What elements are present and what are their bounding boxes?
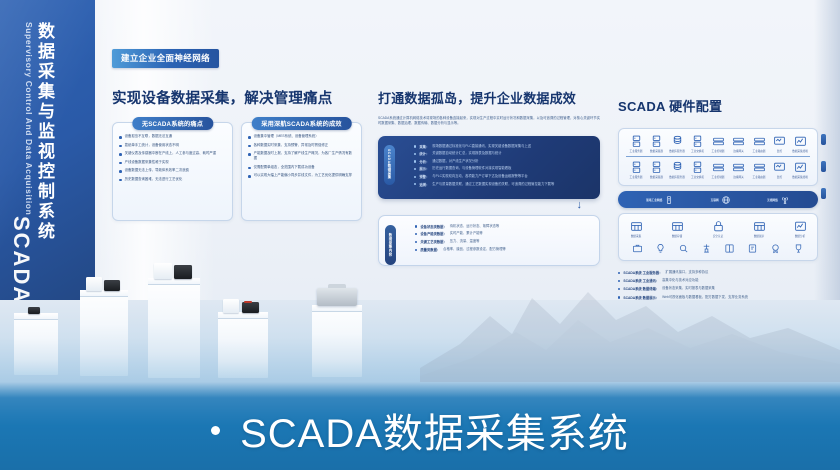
edit-icon xyxy=(747,243,758,254)
column-two-title: 打通数据孤岛，提升企业数据成效 xyxy=(378,88,600,107)
list-item-key: 质量类数据： xyxy=(420,247,440,252)
list-item-text: 仅需配置单组态，全范围内下载成功设备 xyxy=(254,165,315,170)
pedestal xyxy=(14,313,58,375)
list-item-text: 与PLC实现双向互动，各项能力产订单下达及设备运维报警等平台 xyxy=(432,174,527,179)
bullet-dot-icon xyxy=(415,241,417,243)
application-item-label: 数据存储 xyxy=(672,234,682,238)
chart-icon xyxy=(794,220,807,233)
list-item-text: 压力、流量、温度等 xyxy=(450,239,480,244)
column-one: 建立企业全面神经网络 实现设备数据采集，解决管理痛点 无SCADA系统的痛点 设… xyxy=(112,48,362,221)
column-one-title: 实现设备数据采集，解决管理痛点 xyxy=(112,87,362,108)
rack-icon xyxy=(732,161,745,174)
list-item-text: 可以实现大幅上产能偏小同步并线文件，为工艺优化提供明确支撑 xyxy=(254,173,352,178)
tower-icon xyxy=(664,195,674,205)
bullet-dot-icon xyxy=(248,167,251,170)
pedestal-top xyxy=(14,313,58,320)
bullet-dot-icon xyxy=(415,233,417,235)
side-tab xyxy=(821,188,826,199)
list-item-text: 产能数据及时上报，支持了解产线生产概况，为各厂生产情况有数据 xyxy=(254,151,355,161)
hardware-item-label: 工业控制器 xyxy=(712,175,725,179)
application-item: 安全认证 xyxy=(708,220,728,238)
antenna-icon xyxy=(780,195,790,205)
server-icon xyxy=(650,135,663,148)
server-icon xyxy=(691,135,704,148)
grid-icon xyxy=(630,220,643,233)
bullet-dot-icon xyxy=(119,170,122,173)
list-item-key: 展示： xyxy=(419,166,429,171)
list-item: 展示：历史运行数据查询，与设备管理软件对接实现智能看板 xyxy=(414,166,592,171)
hardware-item-label: 监控 xyxy=(777,175,782,179)
bullet-dot-icon xyxy=(248,153,251,156)
list-item: 分析：通过数据，对产线生产状况分析 xyxy=(414,159,592,164)
list-item: 追溯：生产与质量数据关联，通过工艺数据实现设备的关联，可追溯的过程管控能力下载等 xyxy=(414,182,592,187)
monitor-icon xyxy=(773,161,786,174)
hardware-item-label: 边缘网关 xyxy=(733,175,743,179)
hardware-item: 数据采集终端 xyxy=(790,135,810,153)
collection-content-tab: 数据采集内容 xyxy=(385,225,396,265)
exhibition-booth-screenshot: 数据采集与监视控制系统 SCADA Supervisory Control An… xyxy=(0,0,840,470)
list-item-text: 合格率、废品、过程参数设定、配方管理等 xyxy=(443,247,506,252)
list-item: 设备数据无法上传，导致体系效率二次浪费 xyxy=(119,168,226,173)
sidebar-text-stack: 数据采集与监视控制系统 SCADA Supervisory Control An… xyxy=(8,22,53,312)
list-item-text: 生产与质量数据关联，通过工艺数据实现设备的关联，可追溯的过程管控能力下载等 xyxy=(432,182,554,187)
hardware-row-divider xyxy=(626,156,810,157)
list-item-key: 统计： xyxy=(419,151,429,156)
application-item: 数据采集 xyxy=(626,220,646,238)
pedestal-top xyxy=(148,278,200,285)
bulb-icon xyxy=(655,243,666,254)
hardware-item: 工业服务器 xyxy=(626,161,646,179)
hardware-item-label: 工业交换机 xyxy=(691,149,704,153)
sidebar-scada-word: SCADA xyxy=(8,216,34,304)
podium-icon xyxy=(701,243,712,254)
hardware-item: 边缘网关 xyxy=(729,135,749,153)
hardware-item: 工业交换机 xyxy=(688,135,708,153)
award-icon xyxy=(793,243,804,254)
list-item-text: 通过数据，对产线生产状况分析 xyxy=(432,159,478,164)
bullet-dot-icon xyxy=(119,179,122,182)
hardware-item-label: 数据库服务器 xyxy=(669,175,685,179)
hardware-item-label: 监控 xyxy=(777,149,782,153)
list-item: 产能数据及时上报，支持了解产线生产概况，为各厂生产情况有数据 xyxy=(248,151,355,161)
hardware-upper-box: 工业服务器 数据采集器 数据库服务器 工业交换机 xyxy=(618,128,818,186)
list-item-key: 关键工艺类数据： xyxy=(420,239,446,244)
list-item: 可以实现大幅上产能偏小同步并线文件，为工艺优化提供明确支撑 xyxy=(248,173,355,178)
rack-icon xyxy=(753,135,766,148)
list-item-key: 预警： xyxy=(419,174,429,179)
sidebar-en-wrap: SCADA Supervisory Control And Data Acqui… xyxy=(8,22,34,305)
network-item: 互联网 xyxy=(711,195,731,205)
hardware-item: 工业控制器 xyxy=(708,135,728,153)
down-arrow-icon: ↓ xyxy=(577,200,583,211)
bullet-dot-icon xyxy=(415,225,417,227)
bullet-dot-icon xyxy=(248,136,251,139)
bullet-dot-icon xyxy=(119,153,122,156)
list-item: 设备孤岛不互联，数据无法互通 xyxy=(119,134,226,139)
hardware-config-title: SCADA 硬件配置 xyxy=(618,96,818,115)
hardware-item-label: 工业服务器 xyxy=(630,149,643,153)
pedestal-top xyxy=(312,305,362,312)
bullet-dot-icon xyxy=(414,176,416,178)
bottom-title-banner: SCADA数据采集系统 xyxy=(0,382,840,470)
hardware-row-one: 工业服务器 数据采集器 数据库服务器 工业交换机 xyxy=(626,135,810,153)
hardware-item: 数据库服务器 xyxy=(667,161,687,179)
application-item: 数据存储 xyxy=(667,220,687,238)
list-item-key: 追溯： xyxy=(419,182,429,187)
grid-icon xyxy=(753,220,766,233)
network-item: 现场工业网络 xyxy=(646,195,674,205)
pedestal xyxy=(148,278,200,378)
sidebar-subtitle-en: Supervisory Control And Data Acquisition xyxy=(24,22,34,215)
sidebar-banner: 数据采集与监视控制系统 SCADA Supervisory Control An… xyxy=(0,0,95,330)
diagram-side-tabs xyxy=(821,134,826,199)
list-item: 采集：现场数据通过标准化与PLC直接通讯，实现关键设备数据采集与上送 xyxy=(414,144,592,149)
hardware-row-two: 工业服务器 数据采集器 数据库服务器 工业交换机 xyxy=(626,161,810,179)
application-item: 数据分析 xyxy=(790,220,810,238)
display-device xyxy=(104,280,120,291)
list-item: 预警：与PLC实现双向互动，各项能力产订单下达及设备运维报警等平台 xyxy=(414,174,592,179)
list-item: 历史数据查询困难，无法进行工艺优化 xyxy=(119,177,226,182)
sidebar-title-cn: 数据采集与监视控制系统 xyxy=(36,22,53,242)
book-icon xyxy=(724,243,735,254)
list-item-text: 关键仪表及传感器中断在产线上，人工参与度过高、耗时严重 xyxy=(125,151,217,156)
network-item-label: 互联网 xyxy=(711,198,719,202)
grid-icon xyxy=(671,220,684,233)
benefits-list: 设备集中管理（MES系统、设备管理系统） 各种数据实时采集，支持预警、异常及时督… xyxy=(248,134,355,178)
list-item: 产线设备数据采集性难于实现 xyxy=(119,160,226,165)
hardware-item-label: 数据采集器 xyxy=(650,175,663,179)
bullet-dot-icon xyxy=(248,145,251,148)
display-device-handle xyxy=(328,284,346,288)
monitor-icon xyxy=(773,135,786,148)
pedestal xyxy=(80,290,128,376)
globe-icon xyxy=(721,195,731,205)
list-item-text: 待机状态、运行状态、故障状态等 xyxy=(450,224,499,229)
list-item-text: 现场数据通过标准化与PLC直接通讯，实现关键设备数据采集与上送 xyxy=(432,144,531,149)
bullet-dot-icon xyxy=(248,175,251,178)
lock-icon xyxy=(712,220,725,233)
bullet-dot-icon xyxy=(119,162,122,165)
network-item: 无线网络 xyxy=(767,195,790,205)
list-item-text: 历史运行数据查询，与设备管理软件对接实现智能看板 xyxy=(432,166,511,171)
hardware-item: 工业交换机 xyxy=(688,161,708,179)
server-icon xyxy=(691,161,704,174)
hardware-item-label: 工业服务器 xyxy=(630,175,643,179)
display-device xyxy=(174,265,192,279)
list-item: 质量类数据：合格率、废品、过程参数设定、配方管理等 xyxy=(415,247,591,252)
hardware-item: 数据采集终端 xyxy=(790,161,810,179)
application-item-label: 数据采集 xyxy=(631,234,641,238)
application-item-label: 数据分析 xyxy=(795,234,805,238)
mountain-graphic xyxy=(420,272,840,382)
list-item: 统计：关键数据自动统计汇总，实现报表及数据与统计 xyxy=(414,151,592,156)
hardware-item: 工业服务器 xyxy=(626,135,646,153)
application-item: 数据展示 xyxy=(749,220,769,238)
hardware-item: 边缘网关 xyxy=(729,161,749,179)
list-item: 设备集中管理（MES系统、设备管理系统） xyxy=(248,134,355,139)
server-icon xyxy=(630,135,643,148)
application-row: 数据采集 数据存储 安全认证 数据展示 xyxy=(626,220,810,238)
bullet-dot-icon xyxy=(414,168,416,170)
industry-icon-row xyxy=(626,243,810,254)
hardware-item-label: 工业路由器 xyxy=(753,175,766,179)
pain-benefit-cards: 无SCADA系统的痛点 设备孤岛不互联，数据无法互通 靠纸单手工统计，设备使用状… xyxy=(112,122,362,221)
badge-icon xyxy=(770,243,781,254)
list-item: 设备产能类数据：实时产能、累计产能等 xyxy=(415,231,591,236)
server-icon xyxy=(630,161,643,174)
bullet-dot-icon xyxy=(415,249,417,251)
list-item: 各种数据实时采集，支持预警、异常及时督促修正 xyxy=(248,143,355,148)
hardware-item: 工业路由器 xyxy=(749,135,769,153)
hardware-item: 数据采集器 xyxy=(647,135,667,153)
side-tab xyxy=(821,134,826,145)
network-item-label: 现场工业网络 xyxy=(646,198,662,202)
database-icon xyxy=(671,161,684,174)
pain-points-list: 设备孤岛不互联，数据无法互通 靠纸单手工统计，设备使用状态不明 关键仪表及传感器… xyxy=(119,134,226,182)
rack-icon xyxy=(753,161,766,174)
benefits-card-header: 采用深航SCADA系统的成效 xyxy=(251,117,352,130)
column-two: 打通数据孤岛，提升企业数据成效 SCADA系统通过计算机网络技术将现场的各种设备… xyxy=(378,88,600,266)
rack-icon xyxy=(712,161,725,174)
list-item-key: 分析： xyxy=(419,159,429,164)
banner-title: SCADA数据采集系统 xyxy=(240,401,629,459)
display-device xyxy=(223,299,239,313)
list-item: 设备状态类数据：待机状态、运行状态、故障状态等 xyxy=(415,224,591,229)
pedestal xyxy=(312,305,362,377)
server-icon xyxy=(650,161,663,174)
application-item-label: 安全认证 xyxy=(713,234,723,238)
headline-pill: 建立企业全面神经网络 xyxy=(112,49,219,68)
network-layer-bar: 现场工业网络 互联网 无线网络 xyxy=(618,191,818,208)
hardware-item-label: 数据采集终端 xyxy=(792,149,808,153)
hardware-lower-box: 数据采集 数据存储 安全认证 数据展示 xyxy=(618,213,818,261)
list-item-text: 设备集中管理（MES系统、设备管理系统） xyxy=(254,134,319,139)
chart-icon xyxy=(794,161,807,174)
pain-points-card: 无SCADA系统的痛点 设备孤岛不互联，数据无法互通 靠纸单手工统计，设备使用状… xyxy=(112,122,233,221)
display-device xyxy=(154,263,172,279)
list-item-text: 历史数据查询困难，无法进行工艺优化 xyxy=(125,177,183,182)
banner-inner: SCADA数据采集系统 xyxy=(211,401,629,459)
display-device-accent xyxy=(244,301,252,303)
bullet-dot-icon xyxy=(414,153,416,155)
hardware-item: 监控 xyxy=(770,161,790,179)
chart-icon xyxy=(794,135,807,148)
list-item-text: 关键数据自动统计汇总，实现报表及数据与统计 xyxy=(432,151,501,156)
scada-collection-panel: SCADA数据采集 采集：现场数据通过标准化与PLC直接通讯，实现关键设备数据采… xyxy=(378,136,600,199)
hardware-item-label: 工业路由器 xyxy=(753,149,766,153)
list-item: 关键工艺类数据：压力、流量、温度等 xyxy=(415,239,591,244)
hardware-item-label: 工业控制器 xyxy=(712,149,725,153)
list-item-text: 实时产能、累计产能等 xyxy=(450,231,483,236)
hardware-item: 数据库服务器 xyxy=(667,135,687,153)
collection-content-tab-label: 数据采集内容 xyxy=(388,233,393,256)
list-item-key: 设备状态类数据： xyxy=(420,224,446,229)
bullet-dot-icon xyxy=(119,145,122,148)
target-icon xyxy=(678,243,689,254)
bullet-dot-icon xyxy=(119,136,122,139)
list-item-key: 采集： xyxy=(419,144,429,149)
scada-collection-tab-label: SCADA数据采集 xyxy=(387,149,392,179)
side-tab xyxy=(821,161,826,172)
list-item-text: 各种数据实时采集，支持预警、异常及时督促修正 xyxy=(254,143,329,148)
hardware-item-label: 数据采集终端 xyxy=(792,175,808,179)
bullet-dot-icon xyxy=(414,145,416,147)
bullet-dot-icon xyxy=(414,160,416,162)
list-item: 关键仪表及传感器中断在产线上，人工参与度过高、耗时严重 xyxy=(119,151,226,156)
application-item-label: 数据展示 xyxy=(754,234,764,238)
briefcase-icon xyxy=(632,243,643,254)
list-item-text: 设备数据无法上传，导致体系效率二次浪费 xyxy=(125,168,189,173)
database-icon xyxy=(671,135,684,148)
hardware-item: 工业控制器 xyxy=(708,161,728,179)
pedestal-top xyxy=(80,290,128,297)
column-two-description: SCADA系统通过计算机网络技术将现场的各种设备连接起来，实现对生产过程中实时运… xyxy=(378,116,600,127)
hardware-item-label: 边缘网关 xyxy=(733,149,743,153)
pain-points-card-header: 无SCADA系统的痛点 xyxy=(132,117,213,130)
display-device xyxy=(317,288,357,306)
display-device xyxy=(28,307,40,314)
list-item-text: 靠纸单手工统计，设备使用状态不明 xyxy=(125,143,179,148)
list-item-text: 产线设备数据采集性难于实现 xyxy=(125,160,169,165)
hardware-item: 监控 xyxy=(770,135,790,153)
list-item-key: 设备产能类数据： xyxy=(420,231,446,236)
hardware-item-label: 数据库服务器 xyxy=(669,149,685,153)
scada-collection-tab: SCADA数据采集 xyxy=(384,145,395,185)
hardware-item-label: 数据采集器 xyxy=(650,149,663,153)
bullet-dot-icon xyxy=(211,426,220,435)
benefits-card: 采用深航SCADA系统的成效 设备集中管理（MES系统、设备管理系统） 各种数据… xyxy=(241,122,362,221)
hardware-diagram: 工业服务器 数据采集器 数据库服务器 工业交换机 xyxy=(618,128,818,261)
display-device xyxy=(242,302,259,313)
network-item-label: 无线网络 xyxy=(767,198,778,202)
rack-icon xyxy=(712,135,725,148)
pedestal xyxy=(218,312,268,378)
rack-icon xyxy=(732,135,745,148)
hardware-item: 工业路由器 xyxy=(749,161,769,179)
hardware-item: 数据采集器 xyxy=(647,161,667,179)
list-item: 仅需配置单组态，全范围内下载成功设备 xyxy=(248,165,355,170)
pedestal-top xyxy=(218,312,268,319)
display-device xyxy=(86,277,102,291)
bullet-dot-icon xyxy=(414,183,416,185)
collection-content-panel: 数据采集内容 设备状态类数据：待机状态、运行状态、故障状态等 设备产能类数据：实… xyxy=(378,215,600,266)
list-item: 靠纸单手工统计，设备使用状态不明 xyxy=(119,143,226,148)
list-item-text: 设备孤岛不互联，数据无法互通 xyxy=(125,134,172,139)
hardware-item-label: 工业交换机 xyxy=(691,175,704,179)
